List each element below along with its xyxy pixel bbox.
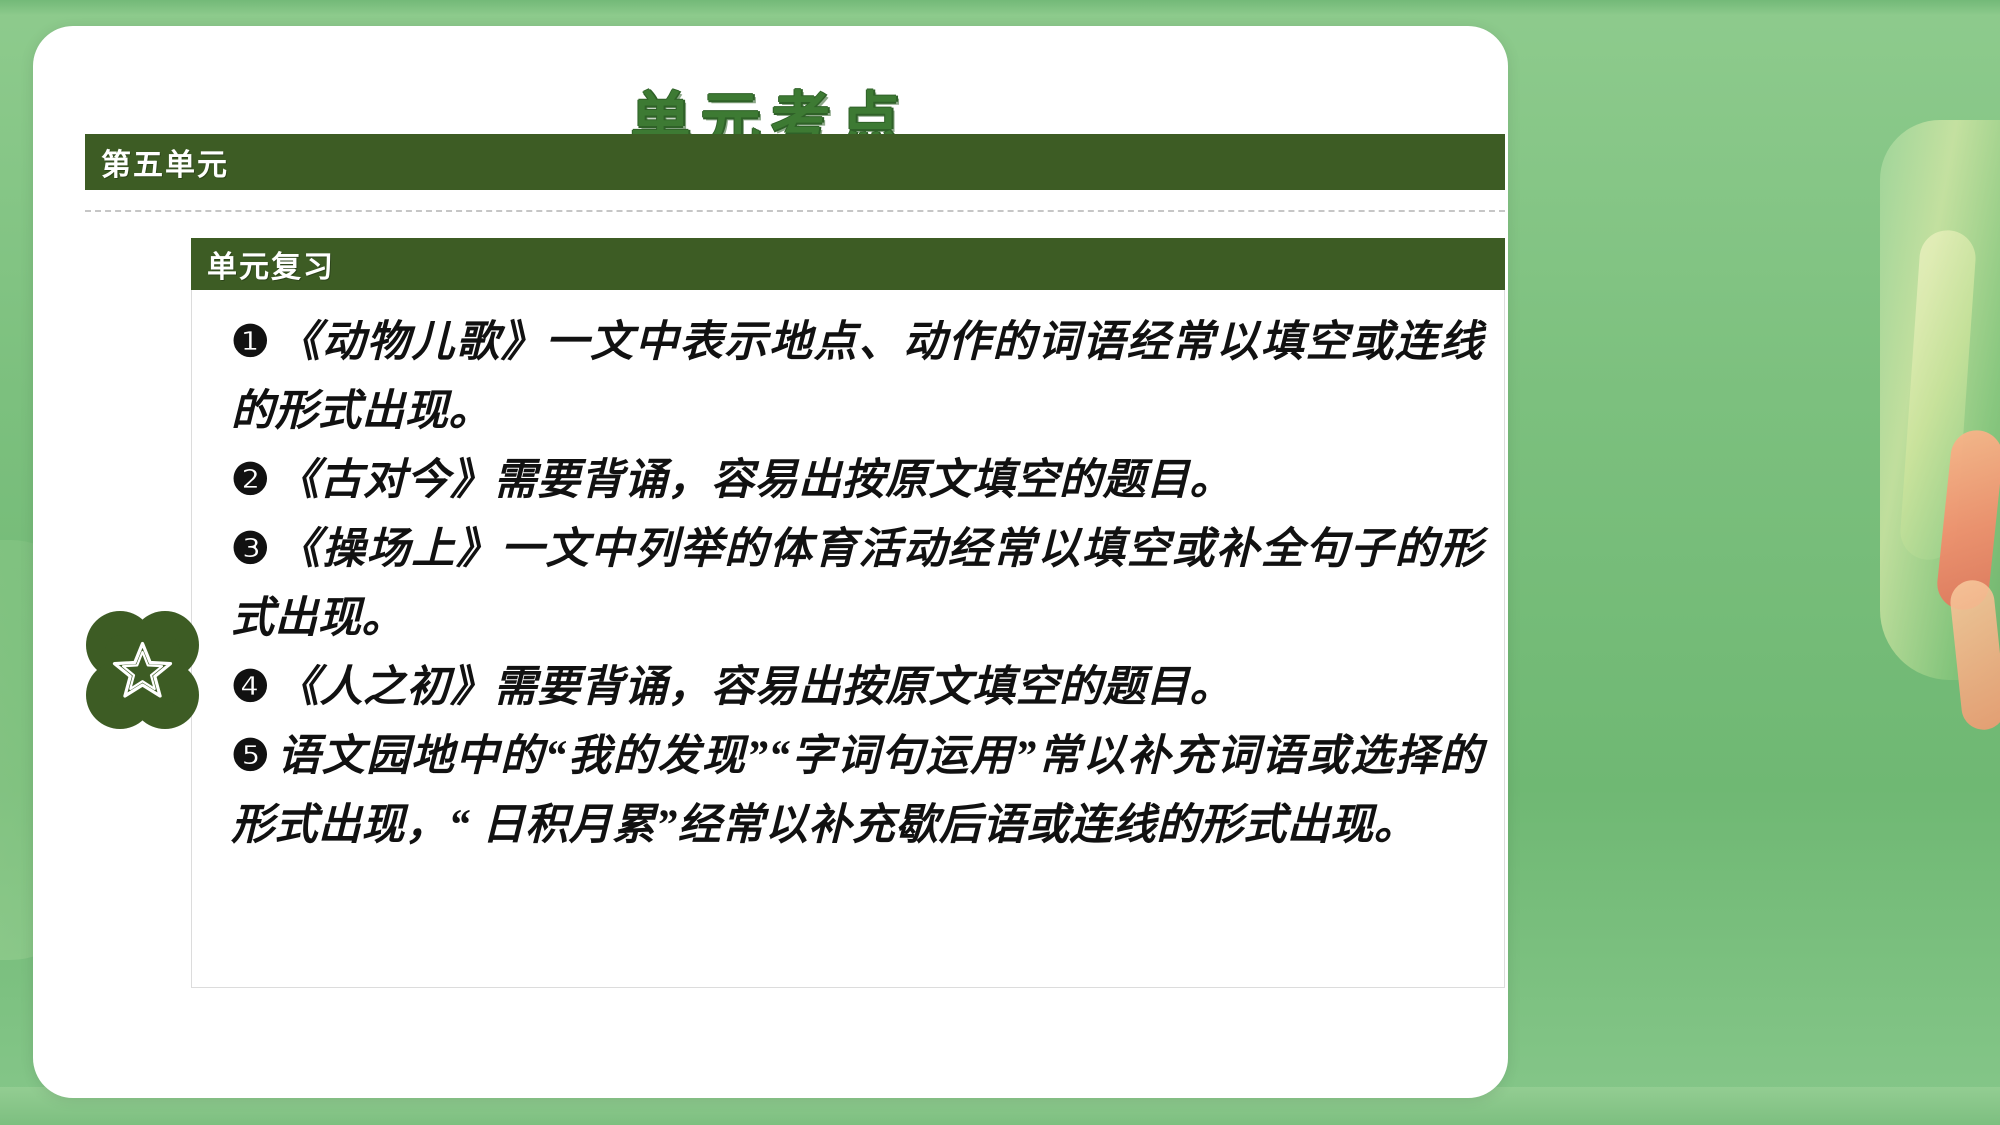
list-marker: ❹ <box>231 664 270 711</box>
star-icon <box>75 605 210 735</box>
star-badge <box>75 605 210 735</box>
list-item: ❺语文园地中的“我的发现”“字词句运用”常以补充词语或选择的形式出现，“ 日积月… <box>231 722 1483 860</box>
list-item: ❸《操场上》一文中列举的体育活动经常以填空或补全句子的形式出现。 <box>231 515 1483 653</box>
list-marker: ❺ <box>231 733 271 780</box>
list-item: ❶《动物儿歌》一文中表示地点、动作的词语经常以填空或连线的形式出现。 <box>231 308 1483 446</box>
list-marker: ❶ <box>231 319 271 366</box>
unit-bar-label: 第五单元 <box>85 140 229 184</box>
content-card: 单元考点 第五单元 单元复习 ❶《动物儿歌》一文中表示地点、动作的词语经常以填空… <box>33 26 1508 1098</box>
unit-bar: 第五单元 <box>85 134 1505 190</box>
list-item-text: 语文园地中的“我的发现”“字词句运用”常以补充词语或选择的形式出现，“ 日积月累… <box>231 733 1483 849</box>
list-item: ❷《古对今》需要背诵，容易出按原文填空的题目。 <box>231 446 1483 515</box>
list-marker: ❸ <box>231 526 271 573</box>
list-marker: ❷ <box>231 457 270 504</box>
section-bar: 单元复习 <box>191 238 1505 290</box>
list-item-text: 《古对今》需要背诵，容易出按原文填空的题目。 <box>276 457 1233 504</box>
list-item: ❹《人之初》需要背诵，容易出按原文填空的题目。 <box>231 653 1483 722</box>
list-item-text: 《操场上》一文中列举的体育活动经常以填空或补全句子的形式出现。 <box>231 526 1483 642</box>
list-item-text: 《动物儿歌》一文中表示地点、动作的词语经常以填空或连线的形式出现。 <box>231 319 1483 435</box>
background-top-band <box>0 0 2000 16</box>
review-points-list: ❶《动物儿歌》一文中表示地点、动作的词语经常以填空或连线的形式出现。 ❷《古对今… <box>231 308 1483 860</box>
list-item-text: 《人之初》需要背诵，容易出按原文填空的题目。 <box>276 664 1233 711</box>
dashed-divider <box>85 210 1505 212</box>
section-bar-label: 单元复习 <box>191 242 335 286</box>
